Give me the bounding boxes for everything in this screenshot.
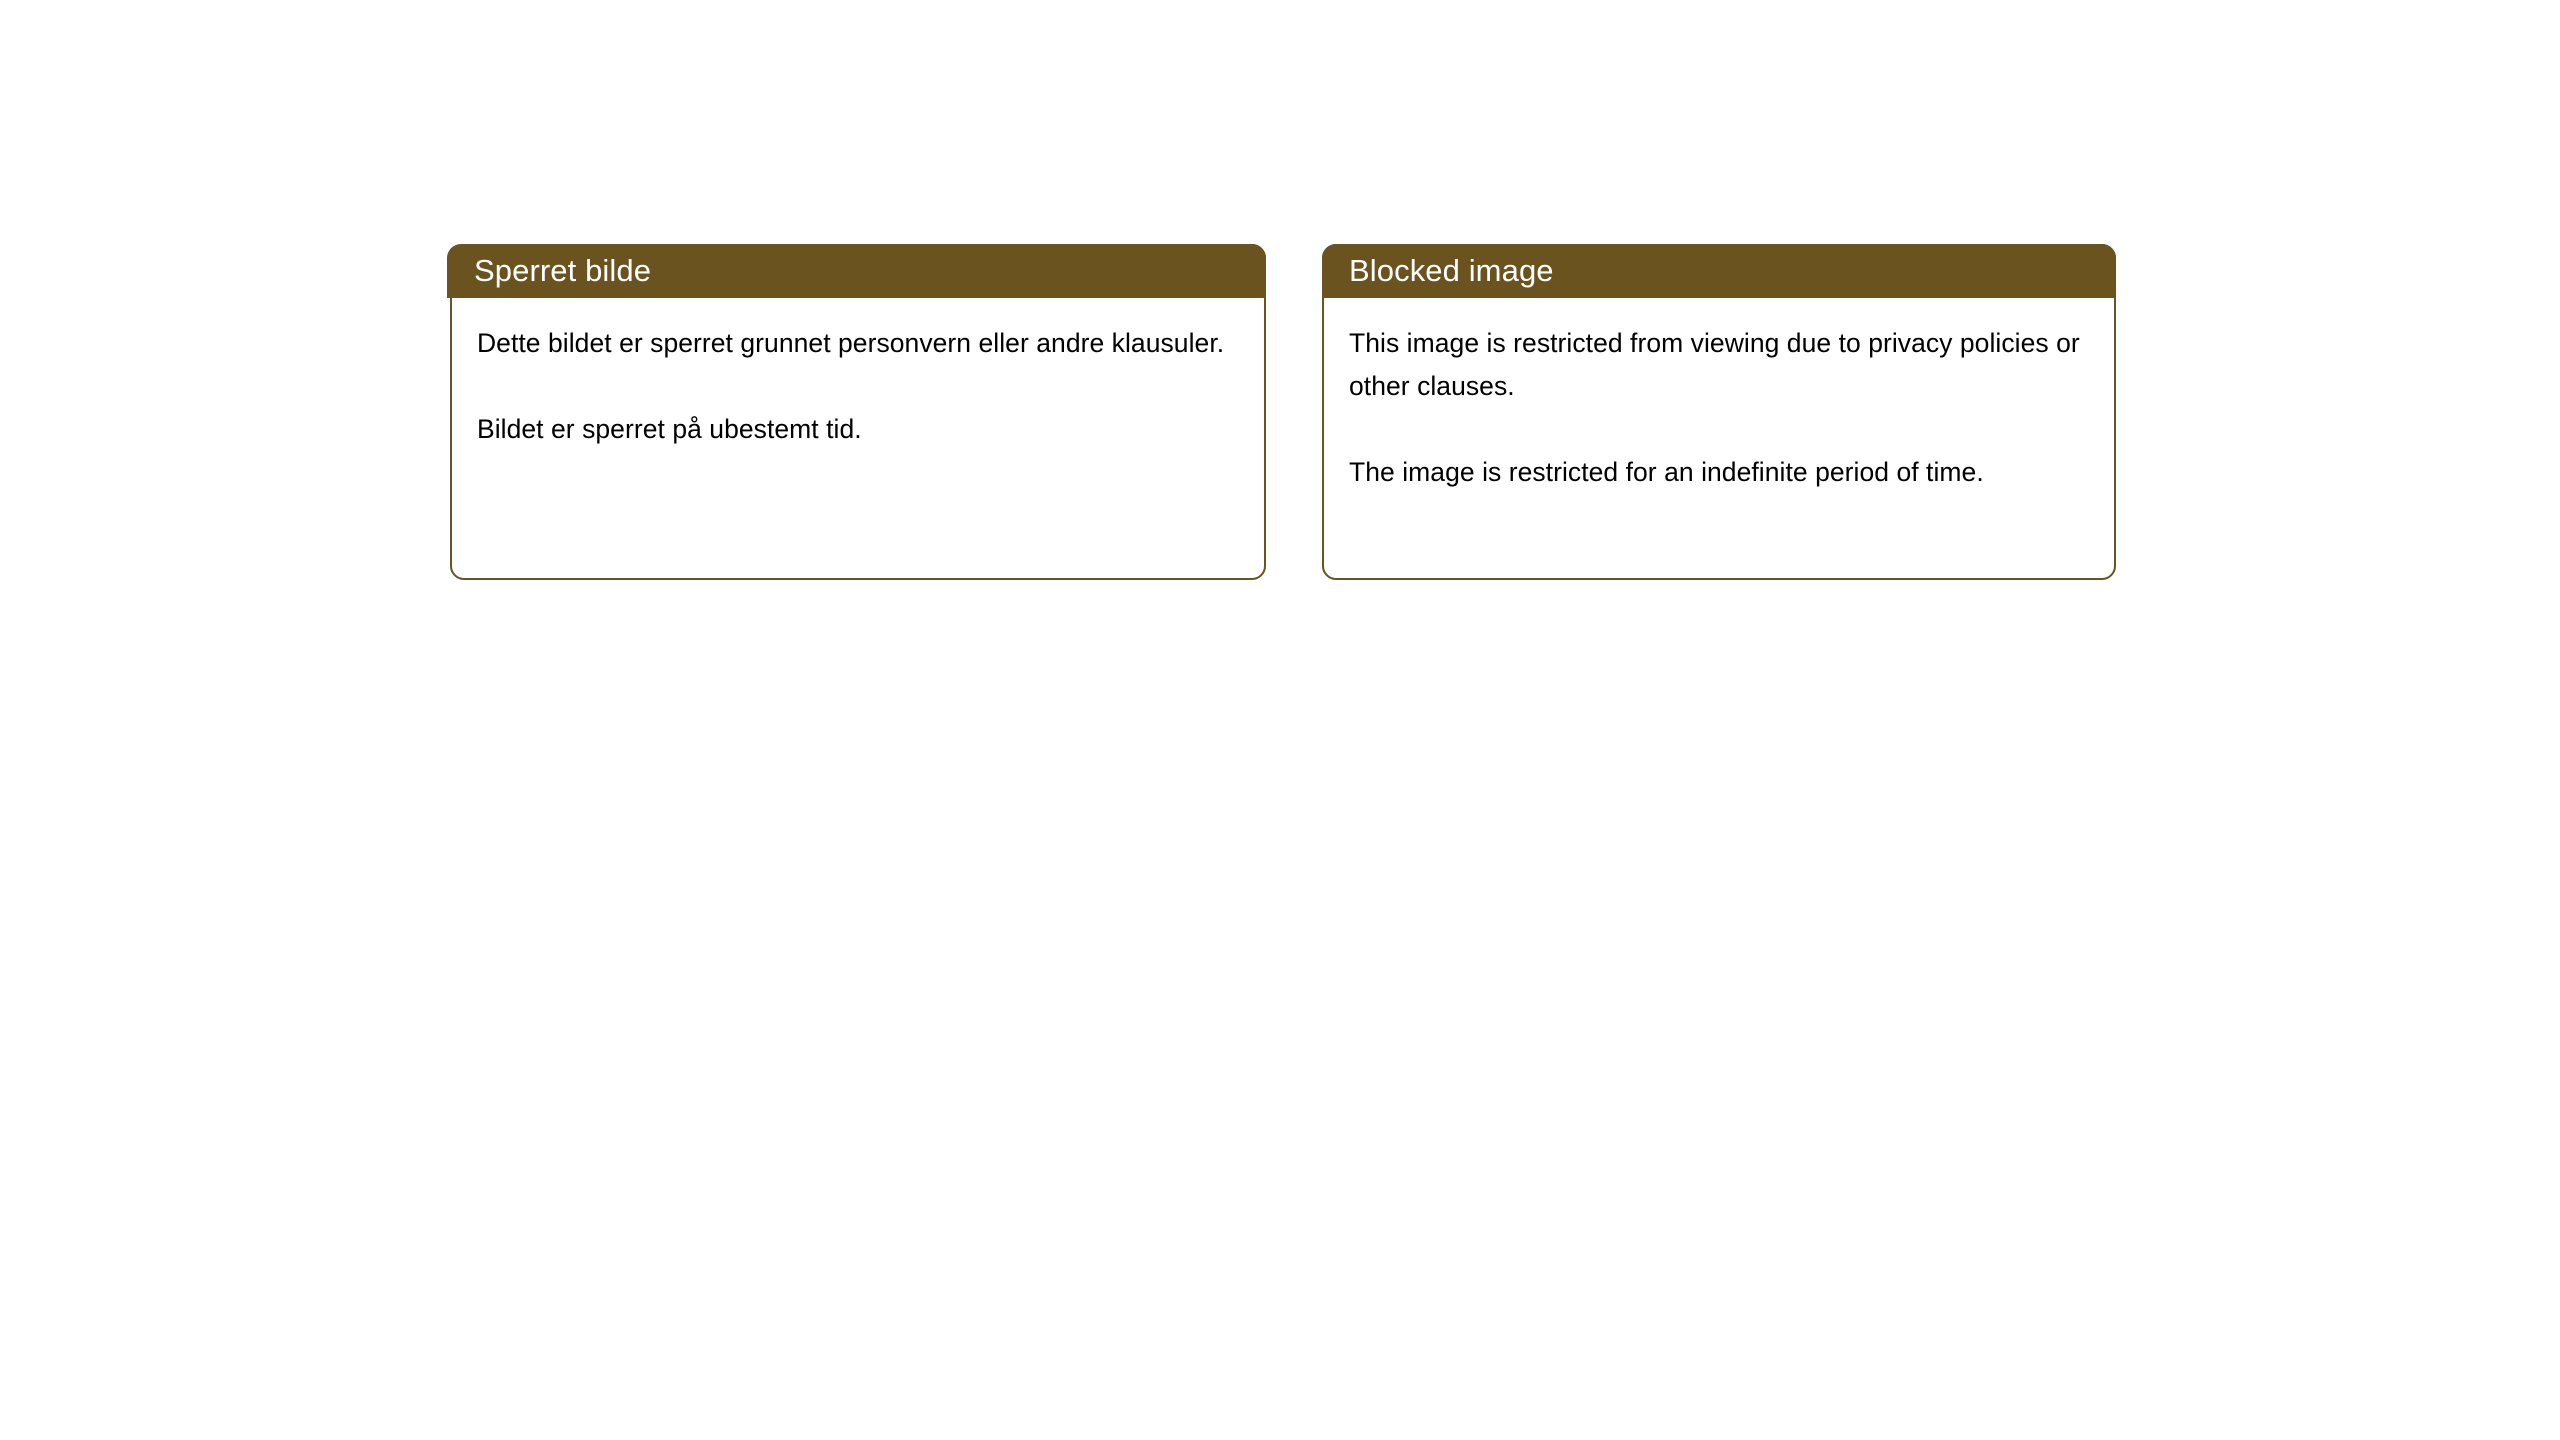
notice-body-no: Dette bildet er sperret grunnet personve… — [452, 300, 1264, 578]
notice-paragraph: Bildet er sperret på ubestemt tid. — [477, 408, 1240, 451]
notice-paragraph: Dette bildet er sperret grunnet personve… — [477, 322, 1240, 365]
notice-header-en: Blocked image — [1322, 244, 2116, 298]
notice-paragraph: The image is restricted for an indefinit… — [1349, 451, 2090, 494]
page-root: Sperret bilde Dette bildet er sperret gr… — [0, 0, 2560, 1440]
blocked-image-notice-en: Blocked image This image is restricted f… — [1322, 244, 2116, 580]
notice-header-no: Sperret bilde — [447, 244, 1266, 298]
blocked-image-notice-no: Sperret bilde Dette bildet er sperret gr… — [450, 244, 1266, 580]
notice-title-no: Sperret bilde — [474, 254, 651, 288]
notice-body-en: This image is restricted from viewing du… — [1324, 300, 2114, 578]
notice-title-en: Blocked image — [1349, 254, 1554, 288]
notice-paragraph: This image is restricted from viewing du… — [1349, 322, 2090, 408]
